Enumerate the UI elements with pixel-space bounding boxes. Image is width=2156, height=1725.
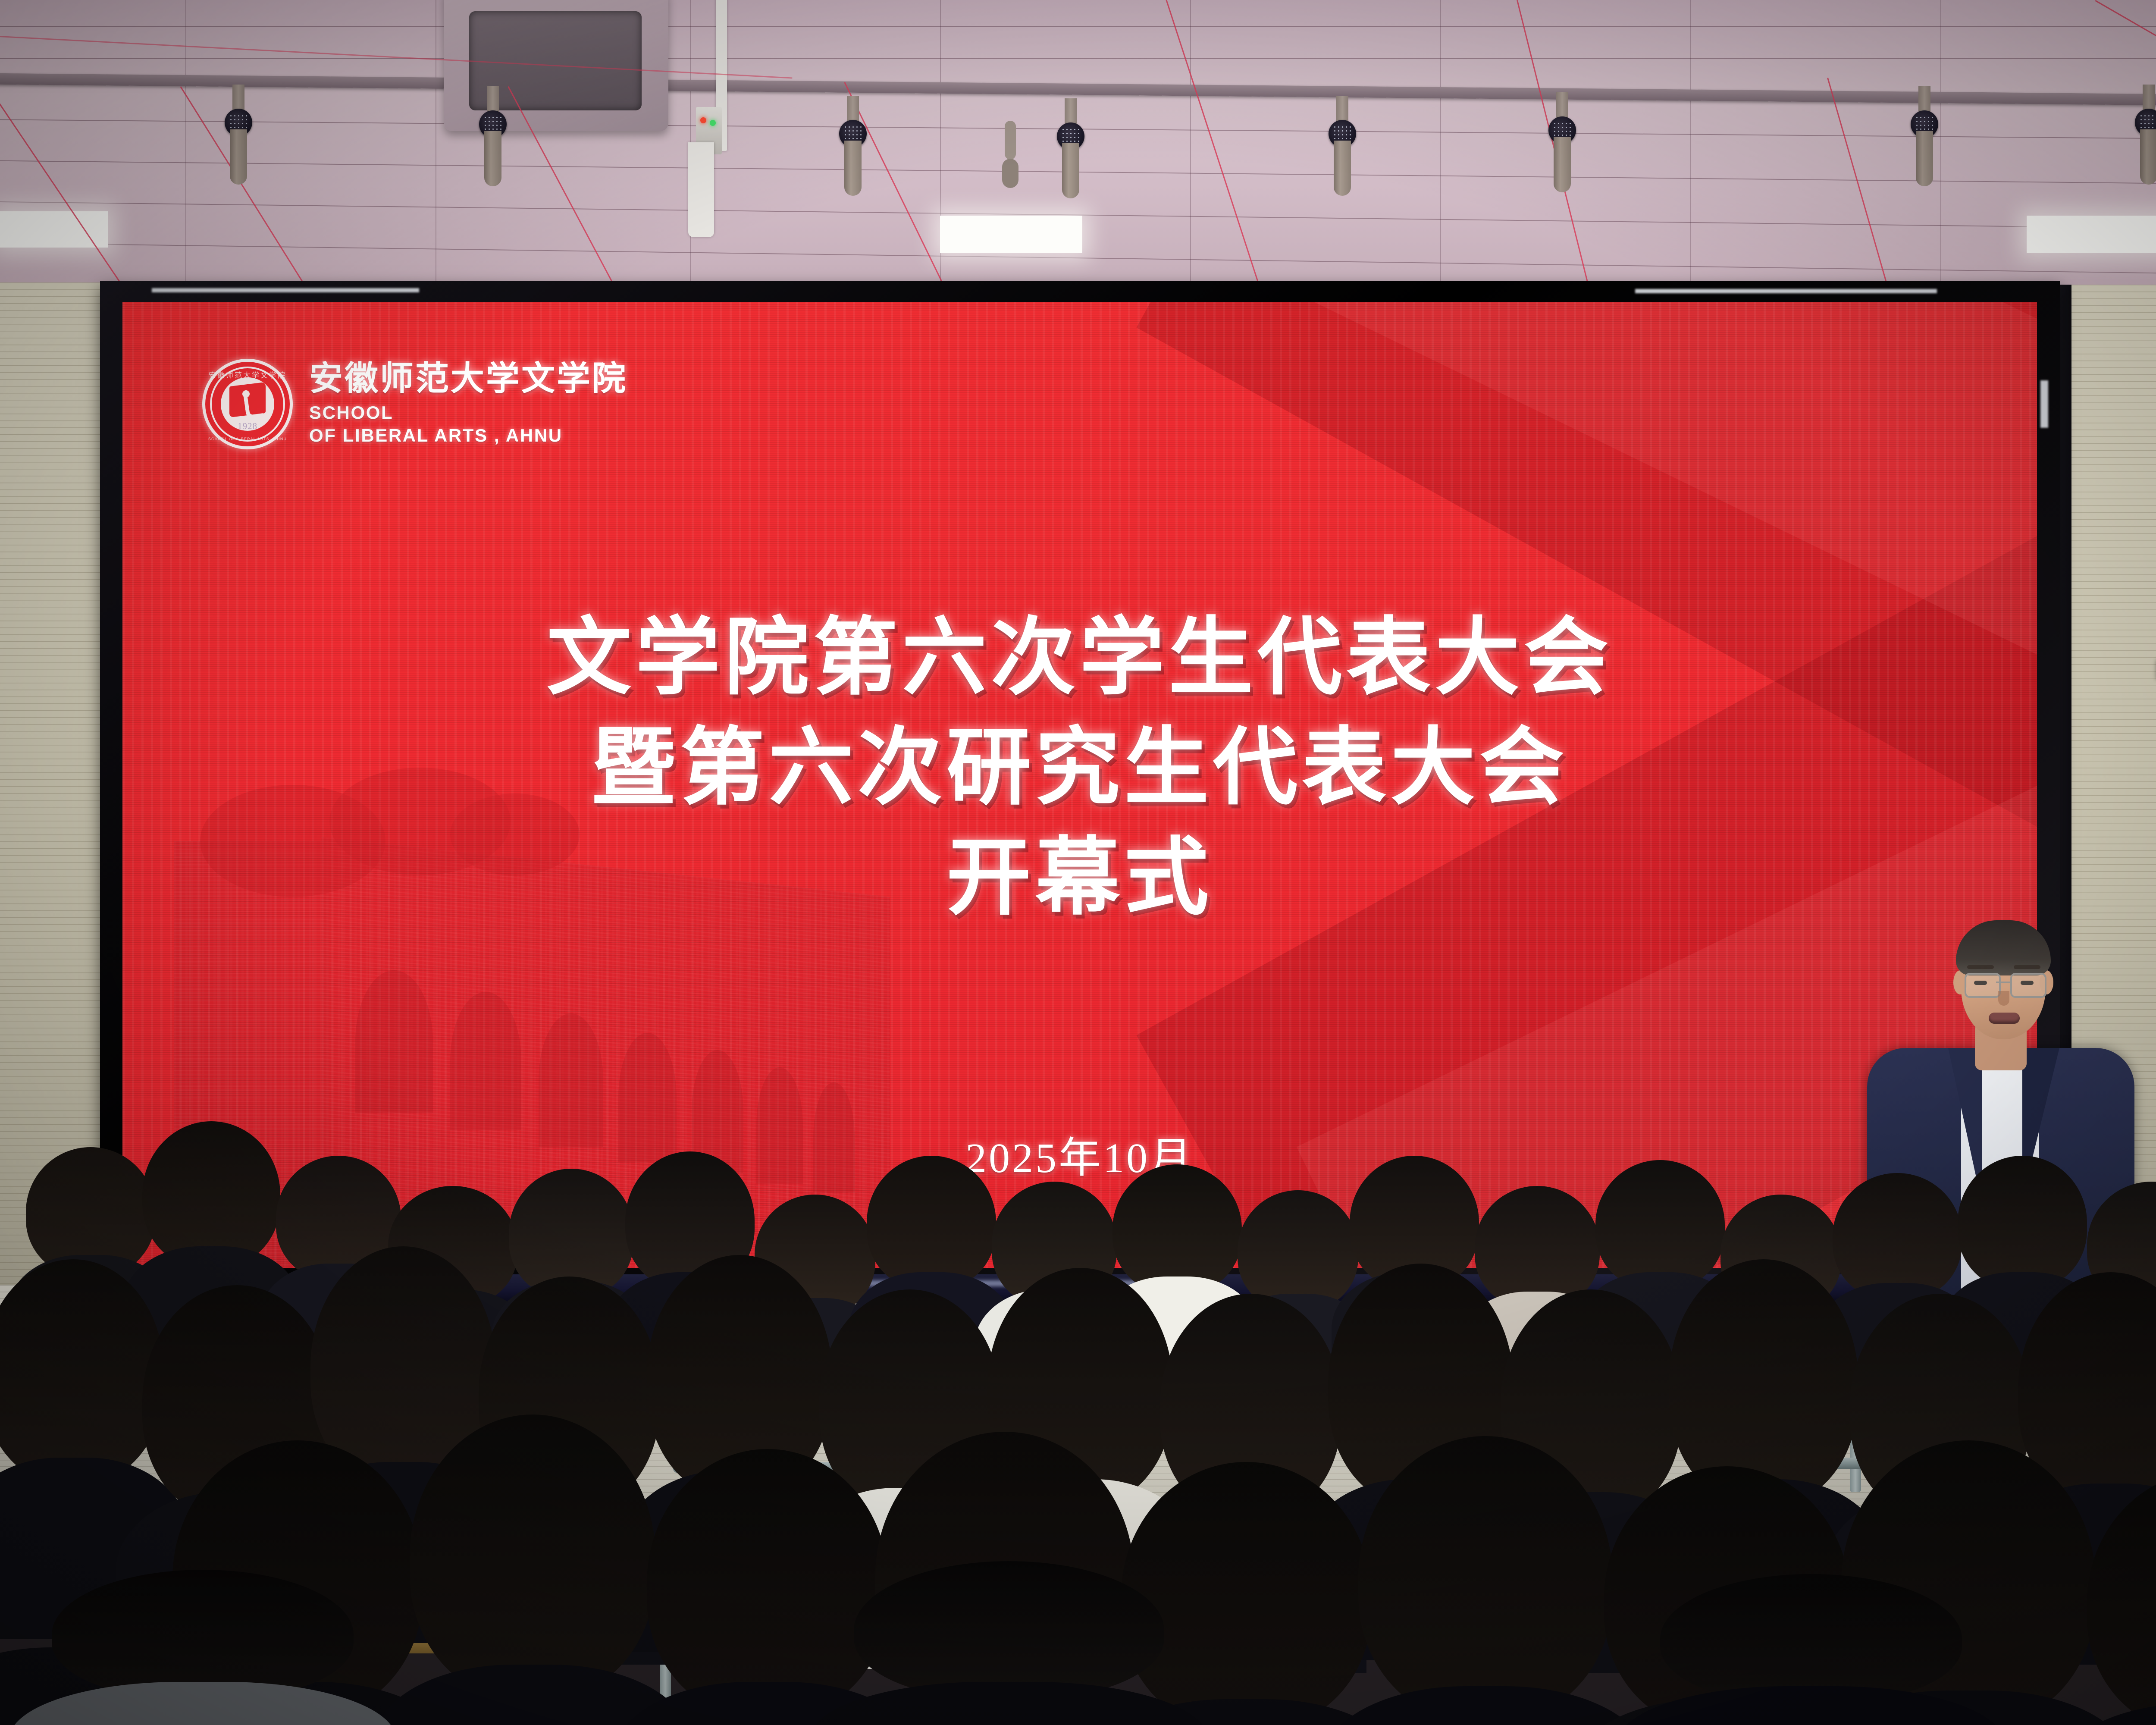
speaker-eyebrow-right	[2014, 965, 2040, 969]
audience-member	[1358, 1436, 1613, 1725]
ceiling-panel-seam	[1440, 0, 1441, 298]
school-logo-lockup: 安徽师范大学文学院 1928 SCHOOL OF LIBERAL ARTS , …	[202, 359, 627, 449]
bezel-glint	[152, 288, 419, 292]
eyeglasses-bridge	[1996, 982, 2011, 983]
speaker-eyebrow-left	[1967, 965, 1994, 969]
ceiling-panel-seam	[1690, 0, 1691, 298]
eyeglasses-icon	[2010, 973, 2046, 998]
ceiling-spotlight	[1061, 98, 1081, 198]
spotlight-arm	[232, 85, 244, 111]
eyeglasses-icon	[1965, 973, 2001, 998]
emblem-year: 1928	[205, 421, 290, 432]
event-title-line-3: 开幕式	[122, 824, 2037, 934]
sprinkler-head	[1005, 121, 1016, 160]
audience-member	[647, 1449, 888, 1725]
emblem-arc-bottom-text: SCHOOL OF LIBERAL ARTS , AHNU	[205, 437, 290, 441]
ceiling-spotlight	[1915, 86, 1934, 185]
audience-member	[52, 1570, 354, 1725]
ceiling-spotlight	[2139, 85, 2156, 184]
ceiling-light	[2027, 216, 2156, 253]
ceiling-panel-seam	[1190, 0, 1191, 298]
ceiling-panel-seam	[1940, 0, 1941, 298]
ceiling-conduit	[688, 142, 714, 237]
ceiling	[0, 0, 2156, 298]
sprinkler-body	[1002, 159, 1018, 188]
ceiling-light	[0, 211, 108, 248]
speaker-mouth	[1989, 1013, 2020, 1024]
speaker-nose	[1998, 991, 2009, 1006]
event-title-block: 文学院第六次学生代表大会 暨第六次研究生代表大会 开幕式	[122, 604, 2037, 933]
ceiling-spotlight	[229, 85, 248, 184]
spotlight-body	[230, 129, 247, 185]
bezel-glint	[2040, 380, 2048, 428]
audience-member	[1660, 1574, 1962, 1725]
ceiling-light	[940, 216, 1082, 253]
status-led-green	[710, 120, 716, 126]
photo-scene: 安徽师范大学文学院 1928 SCHOOL OF LIBERAL ARTS , …	[0, 0, 2156, 1725]
red-cable	[844, 82, 1062, 298]
event-title-line-2: 暨第六次研究生代表大会	[122, 714, 2037, 824]
audience-member	[410, 1414, 655, 1725]
red-cable	[0, 78, 248, 298]
ceiling-spotlight	[483, 86, 503, 185]
school-name-english-line2: OF LIBERAL ARTS , AHNU	[309, 424, 627, 446]
ceiling-panel-seam	[185, 0, 186, 298]
school-name-english-line1: SCHOOL	[309, 401, 627, 423]
ceiling-spotlight	[843, 96, 863, 195]
school-emblem-icon: 安徽师范大学文学院 1928 SCHOOL OF LIBERAL ARTS , …	[202, 359, 293, 449]
audience-member	[854, 1561, 1164, 1725]
ceiling-panel-seam	[940, 0, 941, 298]
ceiling-panel-seam	[436, 0, 436, 298]
ceiling-spotlight	[1552, 92, 1572, 191]
event-title-line-1: 文学院第六次学生代表大会	[122, 604, 2037, 714]
school-name-chinese: 安徽师范大学文学院	[309, 362, 627, 395]
ceiling-panel-line	[0, 26, 2156, 27]
ceiling-panel-line	[0, 58, 2156, 59]
ceiling-spotlight	[1332, 96, 1352, 195]
audience-member	[2087, 1471, 2156, 1725]
status-led-red	[700, 117, 706, 123]
audience-area	[0, 1104, 2156, 1725]
bezel-glint	[1635, 289, 1937, 293]
red-cable	[180, 86, 467, 298]
